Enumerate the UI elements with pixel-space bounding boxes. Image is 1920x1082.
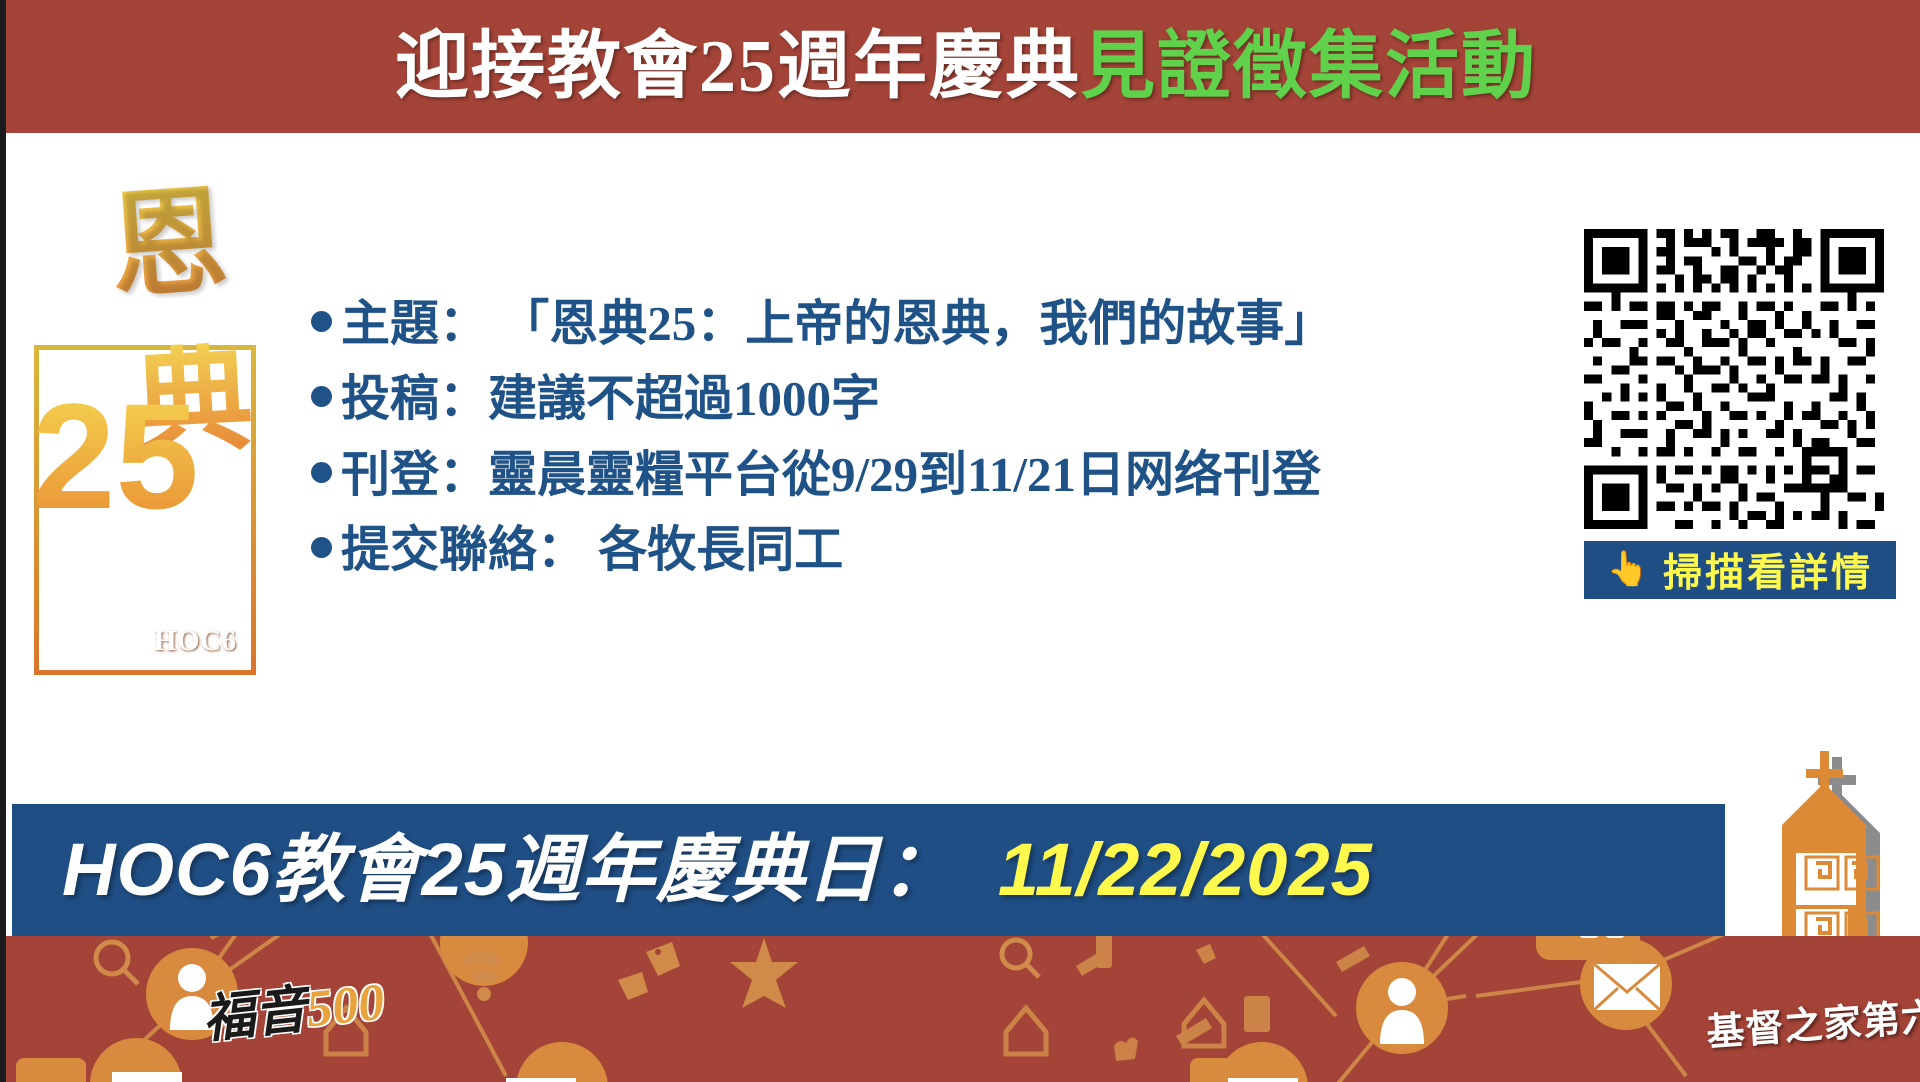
pointing-up-hand-icon: 👆 bbox=[1607, 553, 1649, 587]
bullet-dot-icon bbox=[311, 386, 332, 407]
list-item-text: 提交聯絡： 各牧長同工 bbox=[341, 524, 843, 575]
poster-header: 迎接教會25週年慶典見證徵集活動 bbox=[6, 0, 1920, 133]
anniversary-date-banner: HOC6教會25週年慶典日：11/22/2025 bbox=[12, 804, 1725, 936]
logo-year-number: 25 bbox=[32, 398, 212, 658]
gospel500-chinese: 福音 bbox=[200, 982, 309, 1050]
anniversary-logo: 恩 典 25 HOC6 bbox=[24, 193, 274, 683]
gospel500-number: 500 bbox=[304, 974, 388, 1039]
poster-canvas: 迎接教會25週年慶典見證徵集活動 恩 典 25 HOC6 主題： 「恩典25：上… bbox=[0, 0, 1920, 1082]
details-list: 主題： 「恩典25：上帝的恩典，我們的故事」 投稿：建議不超過1000字 刊登：… bbox=[311, 298, 1601, 600]
list-item: 主題： 「恩典25：上帝的恩典，我們的故事」 bbox=[311, 298, 1601, 349]
list-item-text: 主題： 「恩典25：上帝的恩典，我們的故事」 bbox=[341, 298, 1333, 349]
list-item-text: 刊登：靈晨靈糧平台從9/29到11/21日网络刊登 bbox=[341, 449, 1321, 500]
bullet-dot-icon bbox=[311, 537, 332, 558]
list-item: 刊登：靈晨靈糧平台從9/29到11/21日网络刊登 bbox=[311, 449, 1601, 500]
poster-footer: 福音500 基督之家第六家 bbox=[6, 936, 1920, 1082]
qr-code-image[interactable] bbox=[1584, 229, 1884, 529]
qr-caption-banner[interactable]: 👆 掃描看詳情 bbox=[1584, 541, 1896, 599]
banner-date: 11/22/2025 bbox=[998, 828, 1373, 911]
page-title: 迎接教會25週年慶典見證徵集活動 bbox=[395, 30, 1537, 104]
qr-caption-text: 掃描看詳情 bbox=[1663, 542, 1873, 598]
list-item-text: 投稿：建議不超過1000字 bbox=[341, 373, 880, 424]
bullet-dot-icon bbox=[311, 311, 332, 332]
bullet-dot-icon bbox=[311, 462, 332, 483]
list-item: 投稿：建議不超過1000字 bbox=[311, 373, 1601, 424]
poster-body: 恩 典 25 HOC6 主題： 「恩典25：上帝的恩典，我們的故事」 投稿：建議… bbox=[6, 133, 1920, 800]
page-title-white-part: 迎接教會25週年慶典 bbox=[395, 26, 1081, 108]
banner-text: HOC6教會25週年慶典日：11/22/2025 bbox=[62, 833, 1373, 907]
qr-code-block[interactable]: 👆 掃描看詳情 bbox=[1584, 229, 1896, 599]
list-item: 提交聯絡： 各牧長同工 bbox=[311, 524, 1601, 575]
logo-org-code: HOC6 bbox=[154, 625, 237, 658]
banner-label: HOC6教會25週年慶典日： bbox=[62, 828, 956, 911]
page-title-green-part: 見證徵集活動 bbox=[1081, 26, 1537, 108]
